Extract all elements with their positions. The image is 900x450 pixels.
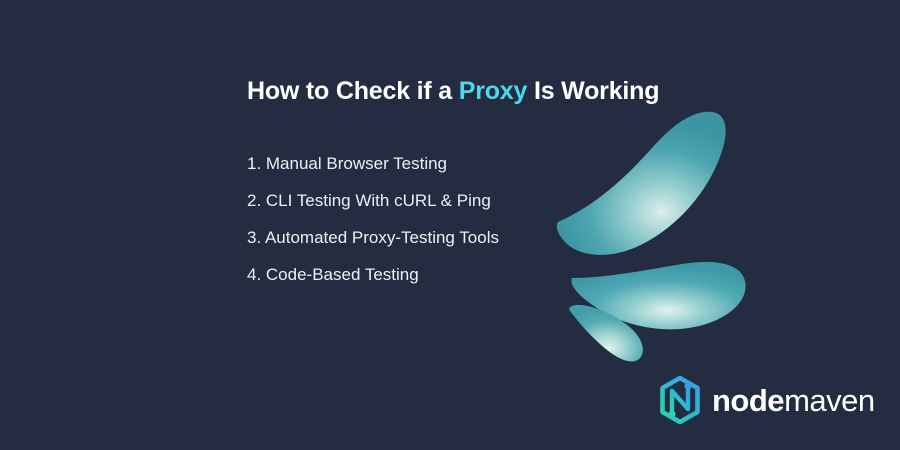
title-accent-proxy: Proxy <box>459 77 527 105</box>
brand-logo: nodemaven <box>657 375 875 425</box>
page-title: How to Check if a Proxy Is Working <box>247 77 659 106</box>
leaf-large-upper-shape <box>557 112 726 255</box>
list-item: 2. CLI Testing With cURL & Ping <box>247 192 499 209</box>
title-part-before: How to Check if a <box>247 77 459 105</box>
list-item: 4. Code-Based Testing <box>247 266 499 283</box>
wordmark-maven: maven <box>784 383 875 418</box>
leaf-small-lower-shape <box>569 305 643 362</box>
nodemaven-hexagon-n-icon <box>657 375 703 425</box>
list-item: 3. Automated Proxy-Testing Tools <box>247 229 499 246</box>
brand-wordmark: nodemaven <box>712 385 875 416</box>
list-item: 1. Manual Browser Testing <box>247 155 499 172</box>
title-part-after: Is Working <box>527 77 659 105</box>
banner-canvas: How to Check if a Proxy Is Working 1. Ma… <box>0 0 900 450</box>
wordmark-node: node <box>712 383 784 418</box>
steps-list: 1. Manual Browser Testing 2. CLI Testing… <box>247 155 499 283</box>
leaf-large-lower-shape <box>572 262 746 329</box>
